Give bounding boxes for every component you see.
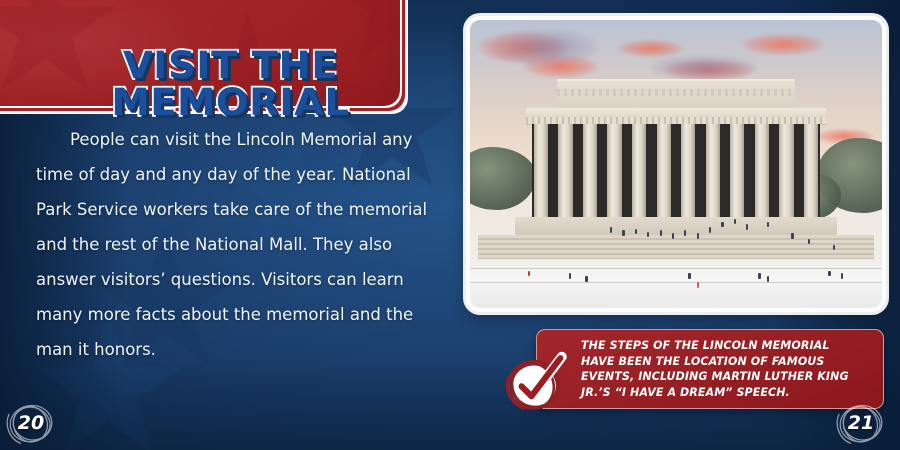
photo-plaza-edge [470,268,882,270]
photo-visitor [828,271,830,277]
photo-visitor [734,219,736,225]
photo-column [534,124,548,219]
photo-visitor [791,233,793,239]
body-paragraph: People can visit the Lincoln Memorial an… [36,122,436,367]
photo-visitor [709,227,711,233]
page-number-right: 21 [832,398,890,448]
photo-visitor [841,273,843,279]
photo-column [558,124,572,219]
photo-memorial-cornice [526,108,827,124]
photo-dentil-molding [526,117,827,124]
photo-memorial-colonnade [532,124,820,219]
photo-plaza-edge [470,282,882,284]
page-number-left: 20 [2,398,60,448]
photo-column [632,124,646,219]
photo-visitor [585,276,587,282]
lincoln-memorial-photo [470,20,882,308]
page-number-right-label: 21 [832,398,890,448]
photo-visitor [622,230,624,236]
photo-column [706,124,720,219]
photo-visitor [660,230,662,236]
photo-visitor [697,282,699,288]
photo-visitor [721,222,723,228]
photo-column [730,124,744,219]
photo-visitor [569,273,571,279]
photo-column [681,124,695,219]
photo-memorial-attic [557,79,796,111]
page-title-line-1: VISIT THE [122,48,337,83]
page-title-line-2: MEMORIAL [111,85,349,120]
photo-column [804,124,818,219]
photo-visitor [833,245,835,251]
photo-plaza [470,259,882,308]
photo-visitor [767,222,769,228]
page-number-left-label: 20 [2,398,60,448]
photo-visitor [528,271,530,277]
photo-column [583,124,597,219]
check-circle-icon [498,343,574,419]
photo-visitor [767,276,769,282]
photo-visitor [697,233,699,239]
fact-callout: THE STEPS OF THE LINCOLN MEMORIAL HAVE B… [536,329,884,409]
photo-column [755,124,769,219]
page-title: VISIT THE MEMORIAL [60,34,400,134]
photo-cloud [491,29,598,66]
photo-column [607,124,621,219]
photo-cloud [742,34,824,54]
photo-visitor [758,273,760,279]
photo-visitor [672,233,674,239]
photo-column [779,124,793,219]
photo-visitor [610,227,612,233]
fact-box: THE STEPS OF THE LINCOLN MEMORIAL HAVE B… [536,329,884,409]
photo-visitor [635,229,637,235]
slide-canvas: VISIT THE MEMORIAL People can visit the … [0,0,900,450]
photo-visitor [808,239,810,245]
photo-visitor [746,224,748,230]
photo-visitor [688,273,690,279]
photo-frame [466,16,886,312]
photo-attic-inscription [557,89,796,97]
photo-column [657,124,671,219]
fact-text: THE STEPS OF THE LINCOLN MEMORIAL HAVE B… [581,338,864,400]
